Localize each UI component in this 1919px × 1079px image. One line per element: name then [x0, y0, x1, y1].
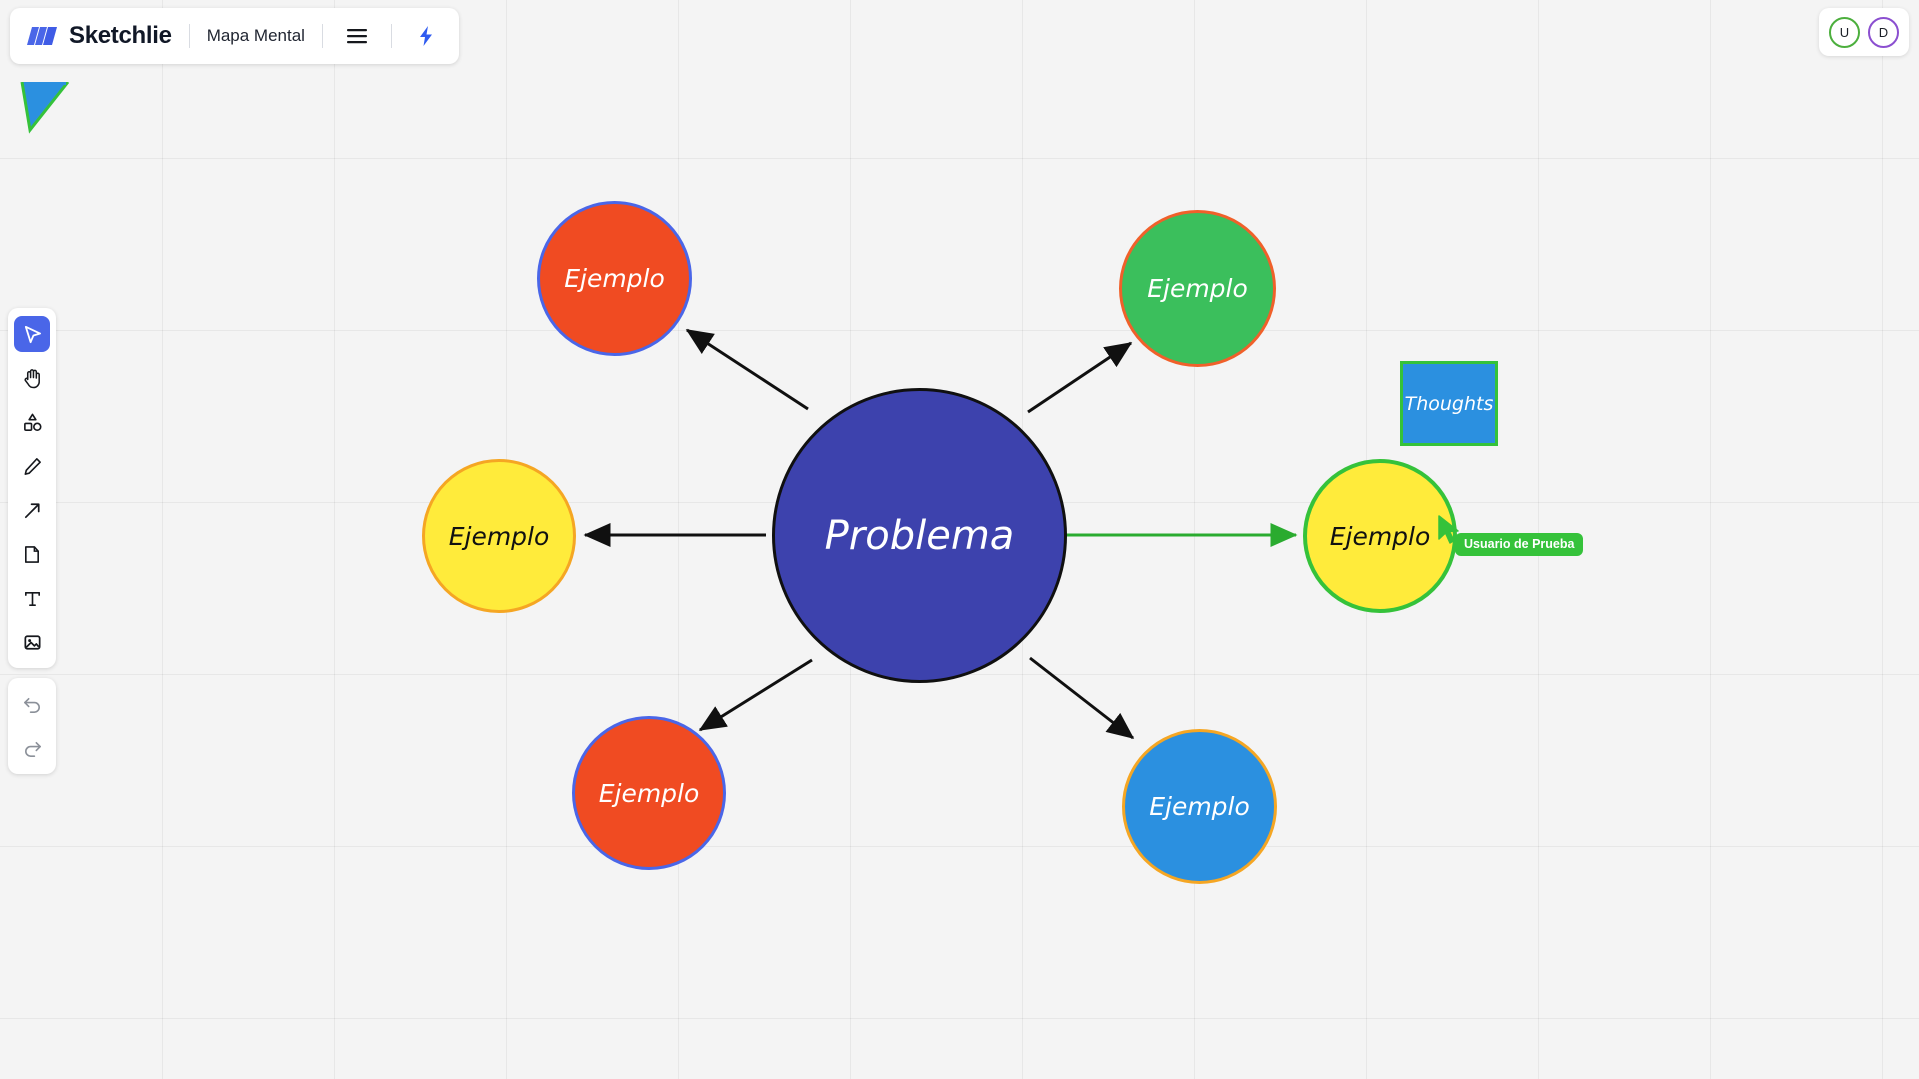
hamburger-menu-icon: [346, 28, 368, 44]
text-t-icon: [22, 588, 43, 609]
pan-tool-button[interactable]: [14, 360, 50, 396]
arrow-tool-button[interactable]: [14, 492, 50, 528]
thoughts-speech-bubble[interactable]: Thoughts: [1400, 361, 1498, 446]
redo-arrow-icon: [22, 738, 43, 759]
note-tool-button[interactable]: [14, 536, 50, 572]
quick-action-button[interactable]: [409, 19, 443, 53]
node-label: Ejemplo: [1149, 792, 1250, 821]
header-divider-3: [391, 24, 392, 48]
select-tool-button[interactable]: [14, 316, 50, 352]
mindmap-node-right-selected[interactable]: Ejemplo: [1303, 459, 1457, 613]
lightning-bolt-icon: [417, 25, 435, 47]
hand-icon: [22, 367, 43, 389]
undo-button[interactable]: [14, 686, 50, 722]
header-divider-2: [322, 24, 323, 48]
pencil-icon: [22, 456, 43, 477]
image-tool-button[interactable]: [14, 624, 50, 660]
note-page-icon: [22, 544, 42, 565]
arrow-up-right-icon: [22, 500, 43, 521]
tool-panel-history: [8, 678, 56, 774]
mindmap-node-left[interactable]: Ejemplo: [422, 459, 576, 613]
mindmap-node-bottom-left[interactable]: Ejemplo: [572, 716, 726, 870]
collaborator-name-label: Usuario de Prueba: [1455, 533, 1583, 556]
shapes-icon: [22, 412, 43, 433]
bubble-tail-icon: [8, 82, 72, 134]
node-label: Ejemplo: [1147, 274, 1248, 303]
left-toolbar: [8, 308, 56, 774]
shape-layer: Problema Ejemplo Ejemplo Ejemplo Ejemplo…: [0, 0, 1919, 1079]
pencil-tool-button[interactable]: [14, 448, 50, 484]
mindmap-node-top-right[interactable]: Ejemplo: [1119, 210, 1276, 367]
avatar-user-u[interactable]: U: [1829, 17, 1860, 48]
tool-panel-main: [8, 308, 56, 668]
avatar-initial: D: [1879, 25, 1888, 40]
avatar-user-d[interactable]: D: [1868, 17, 1899, 48]
app-header: Sketchlie Mapa Mental: [10, 8, 459, 64]
node-label: Ejemplo: [564, 264, 665, 293]
avatar-initial: U: [1840, 25, 1849, 40]
node-label: Ejemplo: [449, 522, 550, 551]
mindmap-node-bottom-right[interactable]: Ejemplo: [1122, 729, 1277, 884]
mindmap-node-top-left[interactable]: Ejemplo: [537, 201, 692, 356]
collaborator-avatars: U D: [1819, 8, 1909, 56]
whiteboard-canvas[interactable]: Problema Ejemplo Ejemplo Ejemplo Ejemplo…: [0, 0, 1919, 1079]
node-label: Ejemplo: [1330, 522, 1431, 551]
redo-button[interactable]: [14, 730, 50, 766]
brand-title: Sketchlie: [69, 22, 172, 50]
text-tool-button[interactable]: [14, 580, 50, 616]
mindmap-node-center[interactable]: Problema: [772, 388, 1067, 683]
image-icon: [22, 632, 43, 653]
node-label: Problema: [825, 513, 1015, 559]
header-divider-1: [189, 24, 190, 48]
undo-arrow-icon: [22, 694, 43, 715]
sketchlie-bars-logo-icon[interactable]: [26, 26, 58, 46]
hamburger-menu-button[interactable]: [340, 19, 374, 53]
cursor-arrow-icon: [22, 324, 43, 345]
shapes-tool-button[interactable]: [14, 404, 50, 440]
board-name[interactable]: Mapa Mental: [207, 26, 305, 46]
node-label: Ejemplo: [599, 779, 700, 808]
bubble-label: Thoughts: [1403, 393, 1495, 415]
